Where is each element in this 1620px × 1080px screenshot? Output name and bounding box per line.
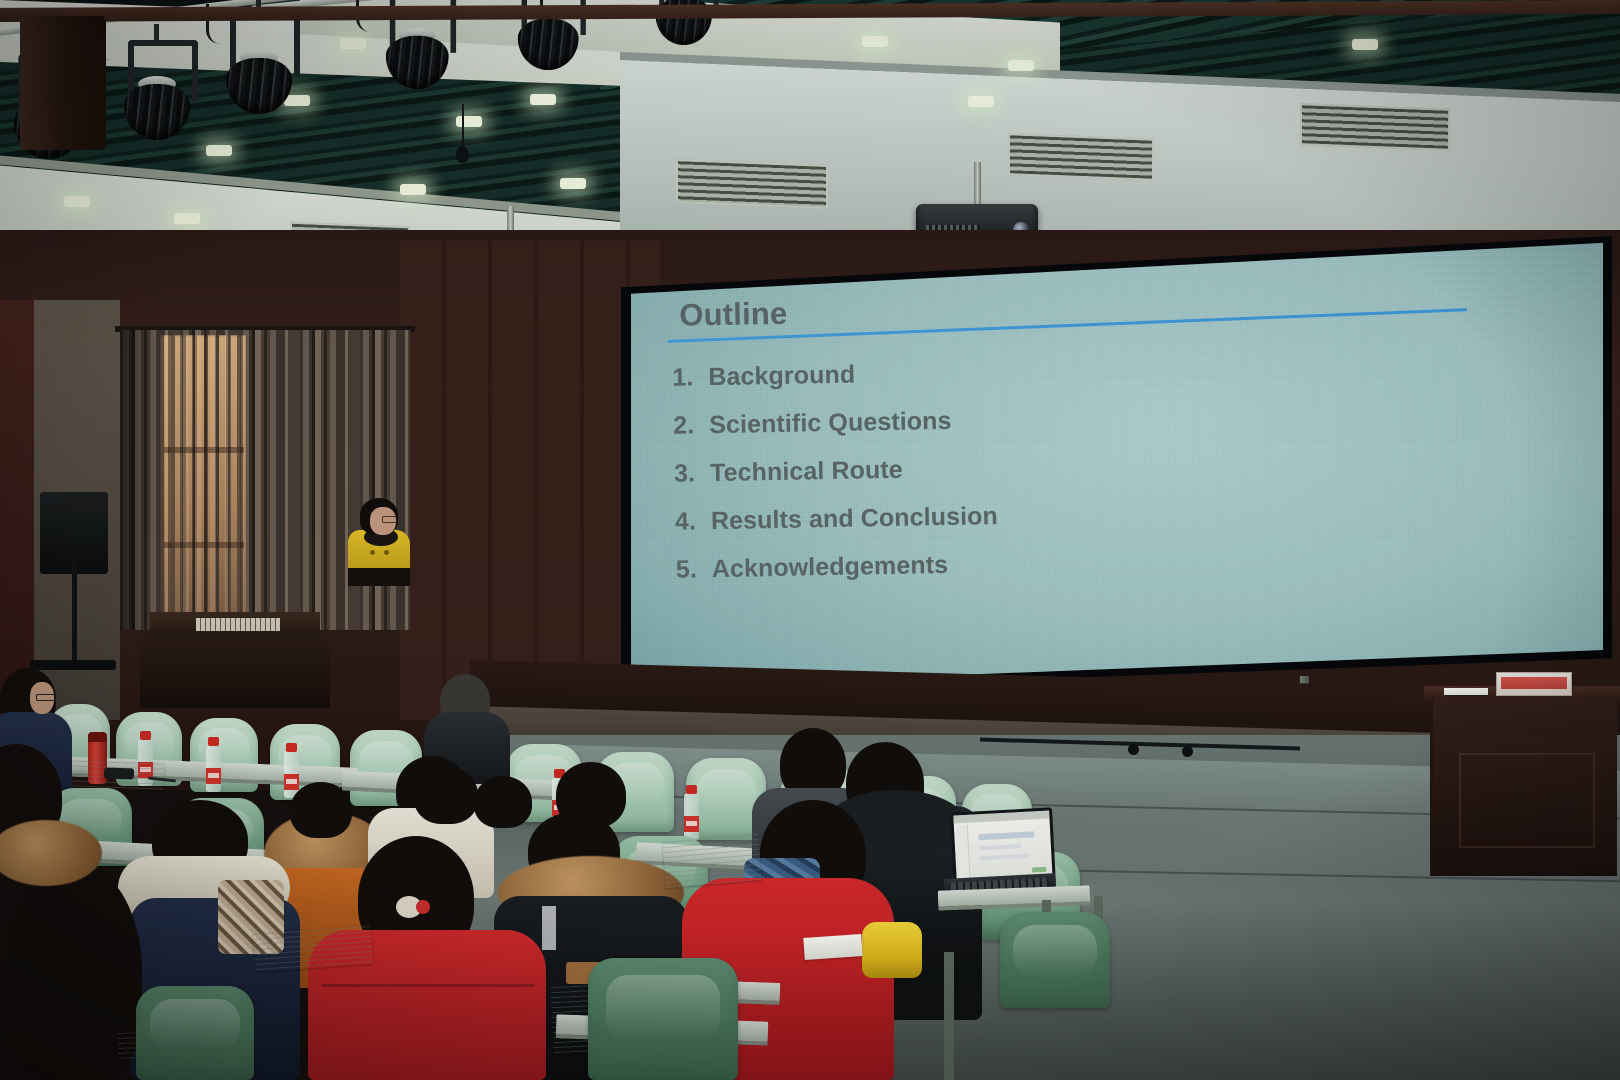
laptop-text-line (979, 844, 1021, 850)
lectern-paper (1444, 688, 1488, 695)
slide-outline-item: 2.Scientific Questions (673, 396, 1533, 440)
ceiling-downlight (862, 36, 888, 47)
ceiling-downlight (64, 196, 90, 207)
slide-item-number: 2. (673, 411, 710, 441)
auditorium-seat (588, 958, 738, 1080)
person-head (414, 766, 478, 824)
side-lectern (1424, 686, 1620, 876)
lecture-hall-photo: Outline 1.Background2.Scientific Questio… (0, 0, 1620, 1080)
spotlight-housing (386, 36, 449, 89)
auditorium-seat (1000, 912, 1110, 1008)
presenter-glasses-icon (382, 516, 397, 523)
jacket-button (384, 550, 389, 555)
ceiling-downlight (1008, 60, 1034, 71)
phone-on-desk (104, 767, 134, 779)
bottle-cap-icon (686, 785, 697, 794)
lectern-panel (1459, 753, 1595, 849)
slide-outline-item: 1.Background (672, 349, 1532, 393)
ceiling-downlight (560, 178, 586, 189)
spotlight-housing (226, 58, 292, 114)
lectern-sign (1496, 672, 1572, 696)
projection-screen: Outline 1.Background2.Scientific Questio… (612, 236, 1612, 694)
yellow-bag (862, 922, 922, 978)
ac-vent-grille (1300, 103, 1450, 151)
ac-vent-grille (1008, 133, 1154, 181)
console-body (140, 636, 330, 708)
bottle-label (206, 768, 221, 784)
laptop-text-line (979, 854, 1029, 861)
podium-body (20, 16, 104, 150)
ceiling-downlight (456, 116, 482, 127)
puffer-seam (322, 984, 534, 987)
ceiling-downlight (530, 94, 556, 105)
laptop-titlebar (953, 811, 1049, 824)
speaker-stand (72, 560, 77, 670)
slide-item-number: 1. (672, 363, 709, 393)
ceiling-downlight (968, 96, 994, 107)
ceiling-downlight (1352, 39, 1378, 50)
spotlight-housing (518, 18, 579, 70)
slide-item-label: Results and Conclusion (711, 502, 998, 536)
ceiling-downlight (206, 145, 232, 156)
cable-knob (1182, 746, 1193, 757)
hair-tie-accent (416, 900, 430, 914)
laptop-sidebar (957, 825, 971, 881)
water-bottle (684, 792, 699, 840)
bottle-label (284, 774, 299, 790)
lectern-body (1430, 700, 1617, 876)
slide-item-label: Acknowledgements (712, 551, 949, 584)
slide-item-label: Technical Route (710, 456, 903, 488)
lectern-sign-red-band (1501, 677, 1566, 689)
bottle-cap-icon (286, 743, 297, 752)
desk-paper (662, 834, 762, 888)
auditorium-seat (136, 986, 254, 1080)
slide-item-number: 5. (676, 555, 713, 585)
person-head (556, 762, 626, 828)
laptop-text-line (978, 831, 1034, 840)
thermos-cap (88, 732, 107, 742)
stage-spotlight (224, 14, 296, 118)
ceiling-downlight (400, 184, 426, 195)
presenter-lower-body (348, 568, 410, 586)
podium-leg (96, 20, 106, 148)
hanging-sensor-icon (456, 146, 469, 163)
glasses-icon (36, 694, 56, 701)
ceiling-downlight (340, 38, 366, 49)
jacket-logo-strip (542, 906, 556, 950)
bottle-cap-icon (140, 731, 151, 740)
slide-content: Outline 1.Background2.Scientific Questio… (608, 227, 1616, 703)
slide-outline-item: 3.Technical Route (674, 444, 1534, 488)
bottle-cap-icon (208, 737, 219, 746)
slide-item-label: Background (708, 361, 855, 393)
bottle-label (684, 816, 699, 832)
speaker-stand-base (30, 660, 116, 670)
water-bottle (206, 744, 221, 792)
ceiling-downlight (174, 213, 200, 224)
spotlight-housing (124, 84, 190, 140)
slide-item-label: Scientific Questions (709, 407, 952, 440)
cable-knob (1128, 744, 1139, 755)
slide-item-number: 3. (674, 459, 711, 489)
slide-outline-list: 1.Background2.Scientific Questions3.Tech… (672, 349, 1536, 604)
laptop-accent (1032, 867, 1046, 873)
stage-spotlight (122, 40, 194, 144)
jacket-button (370, 550, 375, 555)
slide-outline-item: 5.Acknowledgements (676, 540, 1536, 584)
console-keys (196, 618, 280, 631)
slide-title: Outline (679, 296, 788, 334)
presenter (348, 498, 410, 584)
slide-item-number: 4. (675, 507, 712, 537)
person-head (474, 776, 532, 828)
desk-leg (944, 952, 954, 1080)
slide-outline-item: 4.Results and Conclusion (675, 492, 1535, 536)
hanging-sensor-wire (462, 104, 464, 148)
ac-vent-grille (676, 159, 828, 209)
person-head (290, 782, 352, 838)
projector-mount-pole (974, 162, 981, 208)
left-wall-red-strip (0, 300, 34, 720)
desk-paper (803, 934, 862, 960)
